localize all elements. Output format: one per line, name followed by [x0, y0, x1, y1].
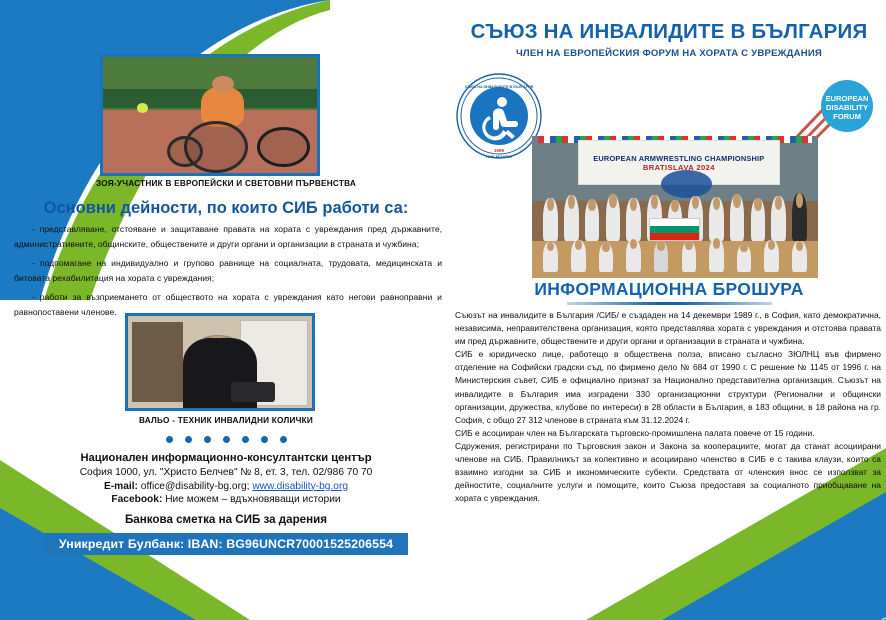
- sib-logo-ring-text-top: СЪЮЗ НА ИНВАЛИДИТЕ В БЪЛГАРИЯ: [465, 85, 534, 89]
- photo-athlete-head: [212, 76, 233, 92]
- email-value: office@disability-bg.org;: [141, 481, 250, 492]
- european-armwrestling-championship-photo: EUROPEAN ARMWRESTLING CHAMPIONSHIP BRATI…: [532, 136, 818, 278]
- right-column: СЪЮЗ НА ИНВАЛИДИТЕ В БЪЛГАРИЯ ЧЛЕН НА ЕВ…: [452, 0, 886, 620]
- edf-logo-line1: EUROPEAN: [825, 94, 868, 103]
- left-column: ЗОЯ-УЧАСТНИК В ЕВРОПЕЙСКИ И СВЕТОВНИ ПЪР…: [0, 0, 452, 620]
- caption-technician: ВАЛЬО - ТЕХНИК ИНВАЛИДНИ КОЛИЧКИ: [0, 416, 452, 425]
- wheelchair-technician-photo: [125, 313, 315, 411]
- website-link[interactable]: www.disability-bg.org: [252, 481, 348, 492]
- contact-email-line: E-mail: office@disability-bg.org; www.di…: [0, 481, 452, 492]
- about-text: Съюзът на инвалидите в България /СИБ/ е …: [455, 309, 881, 505]
- contact-center-heading: Национален информационно-консултантски ц…: [0, 452, 452, 464]
- page-subtitle: ЧЛЕН НА ЕВРОПЕЙСКИЯ ФОРУМ НА ХОРАТА С УВ…: [452, 48, 886, 59]
- about-paragraph-3: СИБ е асоцииран член на Българската търг…: [455, 427, 881, 440]
- separator-dot: [223, 436, 230, 443]
- wheelchair-tennis-photo: [100, 54, 320, 176]
- photo-tennis-ball: [137, 103, 148, 112]
- photo-wheelchair-part: [231, 382, 275, 402]
- separator-dot: [204, 436, 211, 443]
- edf-logo-line2: DISABILITY: [826, 103, 868, 112]
- edge-vertical-text: АО: [877, 614, 886, 620]
- dot-separator: [0, 431, 452, 449]
- photo-tennis-racket: [257, 127, 310, 168]
- photo-team-front-row: [543, 235, 806, 272]
- sib-logo-year: 1989: [494, 148, 505, 153]
- sib-wheelchair-logo: СЪЮЗ НА ИНВАЛИДИТЕ В БЪЛГАРИЯ 1989 НИЕ М…: [455, 72, 543, 160]
- brochure-title: ИНФОРМАЦИОННА БРОШУРА: [452, 279, 886, 300]
- separator-dot: [261, 436, 268, 443]
- title-divider: [567, 302, 772, 305]
- separator-dot: [166, 436, 173, 443]
- facebook-label: Facebook:: [111, 494, 162, 505]
- edf-logo-line3: FORUM: [833, 112, 861, 121]
- activity-bullet-2: - подпомагане на индивидуално и групово …: [14, 256, 442, 286]
- separator-dot: [185, 436, 192, 443]
- about-paragraph-1: Съюзът на инвалидите в България /СИБ/ е …: [455, 309, 881, 348]
- separator-dot: [242, 436, 249, 443]
- contact-block: Национален информационно-консултантски ц…: [0, 452, 452, 531]
- about-paragraph-2: СИБ е юридическо лице, работещо в общест…: [455, 348, 881, 427]
- brochure-page: ЗОЯ-УЧАСТНИК В ЕВРОПЕЙСКИ И СВЕТОВНИ ПЪР…: [0, 0, 886, 620]
- contact-address: София 1000, ул. "Христо Белчев" № 8, ет.…: [0, 467, 452, 478]
- contact-facebook-line: Facebook: Ние можем – вдъхновяващи истор…: [0, 494, 452, 505]
- iban-bar: Уникредит Булбанк: IBAN: BG96UNCR7000152…: [44, 533, 408, 555]
- activity-bullet-1: - представляване, отстояване и защитаван…: [14, 222, 442, 252]
- photo-tool-shelf: [132, 322, 184, 403]
- facebook-value: Ние можем – вдъхновяващи истории: [165, 494, 340, 505]
- separator-dot: [280, 436, 287, 443]
- section-title-activities: Основни дейности, по които СИБ работи са…: [0, 199, 452, 218]
- caption-tennis: ЗОЯ-УЧАСТНИК В ЕВРОПЕЙСКИ И СВЕТОВНИ ПЪР…: [0, 179, 452, 188]
- activities-list: - представляване, отстояване и защитаван…: [14, 222, 442, 324]
- bank-account-heading: Банкова сметка на СИБ за дарения: [0, 513, 452, 526]
- page-title: СЪЮЗ НА ИНВАЛИДИТЕ В БЪЛГАРИЯ: [452, 20, 886, 44]
- about-paragraph-4: Сдружения, регистрирани по Търговския за…: [455, 440, 881, 505]
- banner-title-line1: EUROPEAN ARMWRESTLING CHAMPIONSHIP: [593, 154, 764, 163]
- email-label: E-mail:: [104, 481, 138, 492]
- sib-logo-ring-text-bottom: НИЕ МОЖЕМ: [486, 154, 512, 159]
